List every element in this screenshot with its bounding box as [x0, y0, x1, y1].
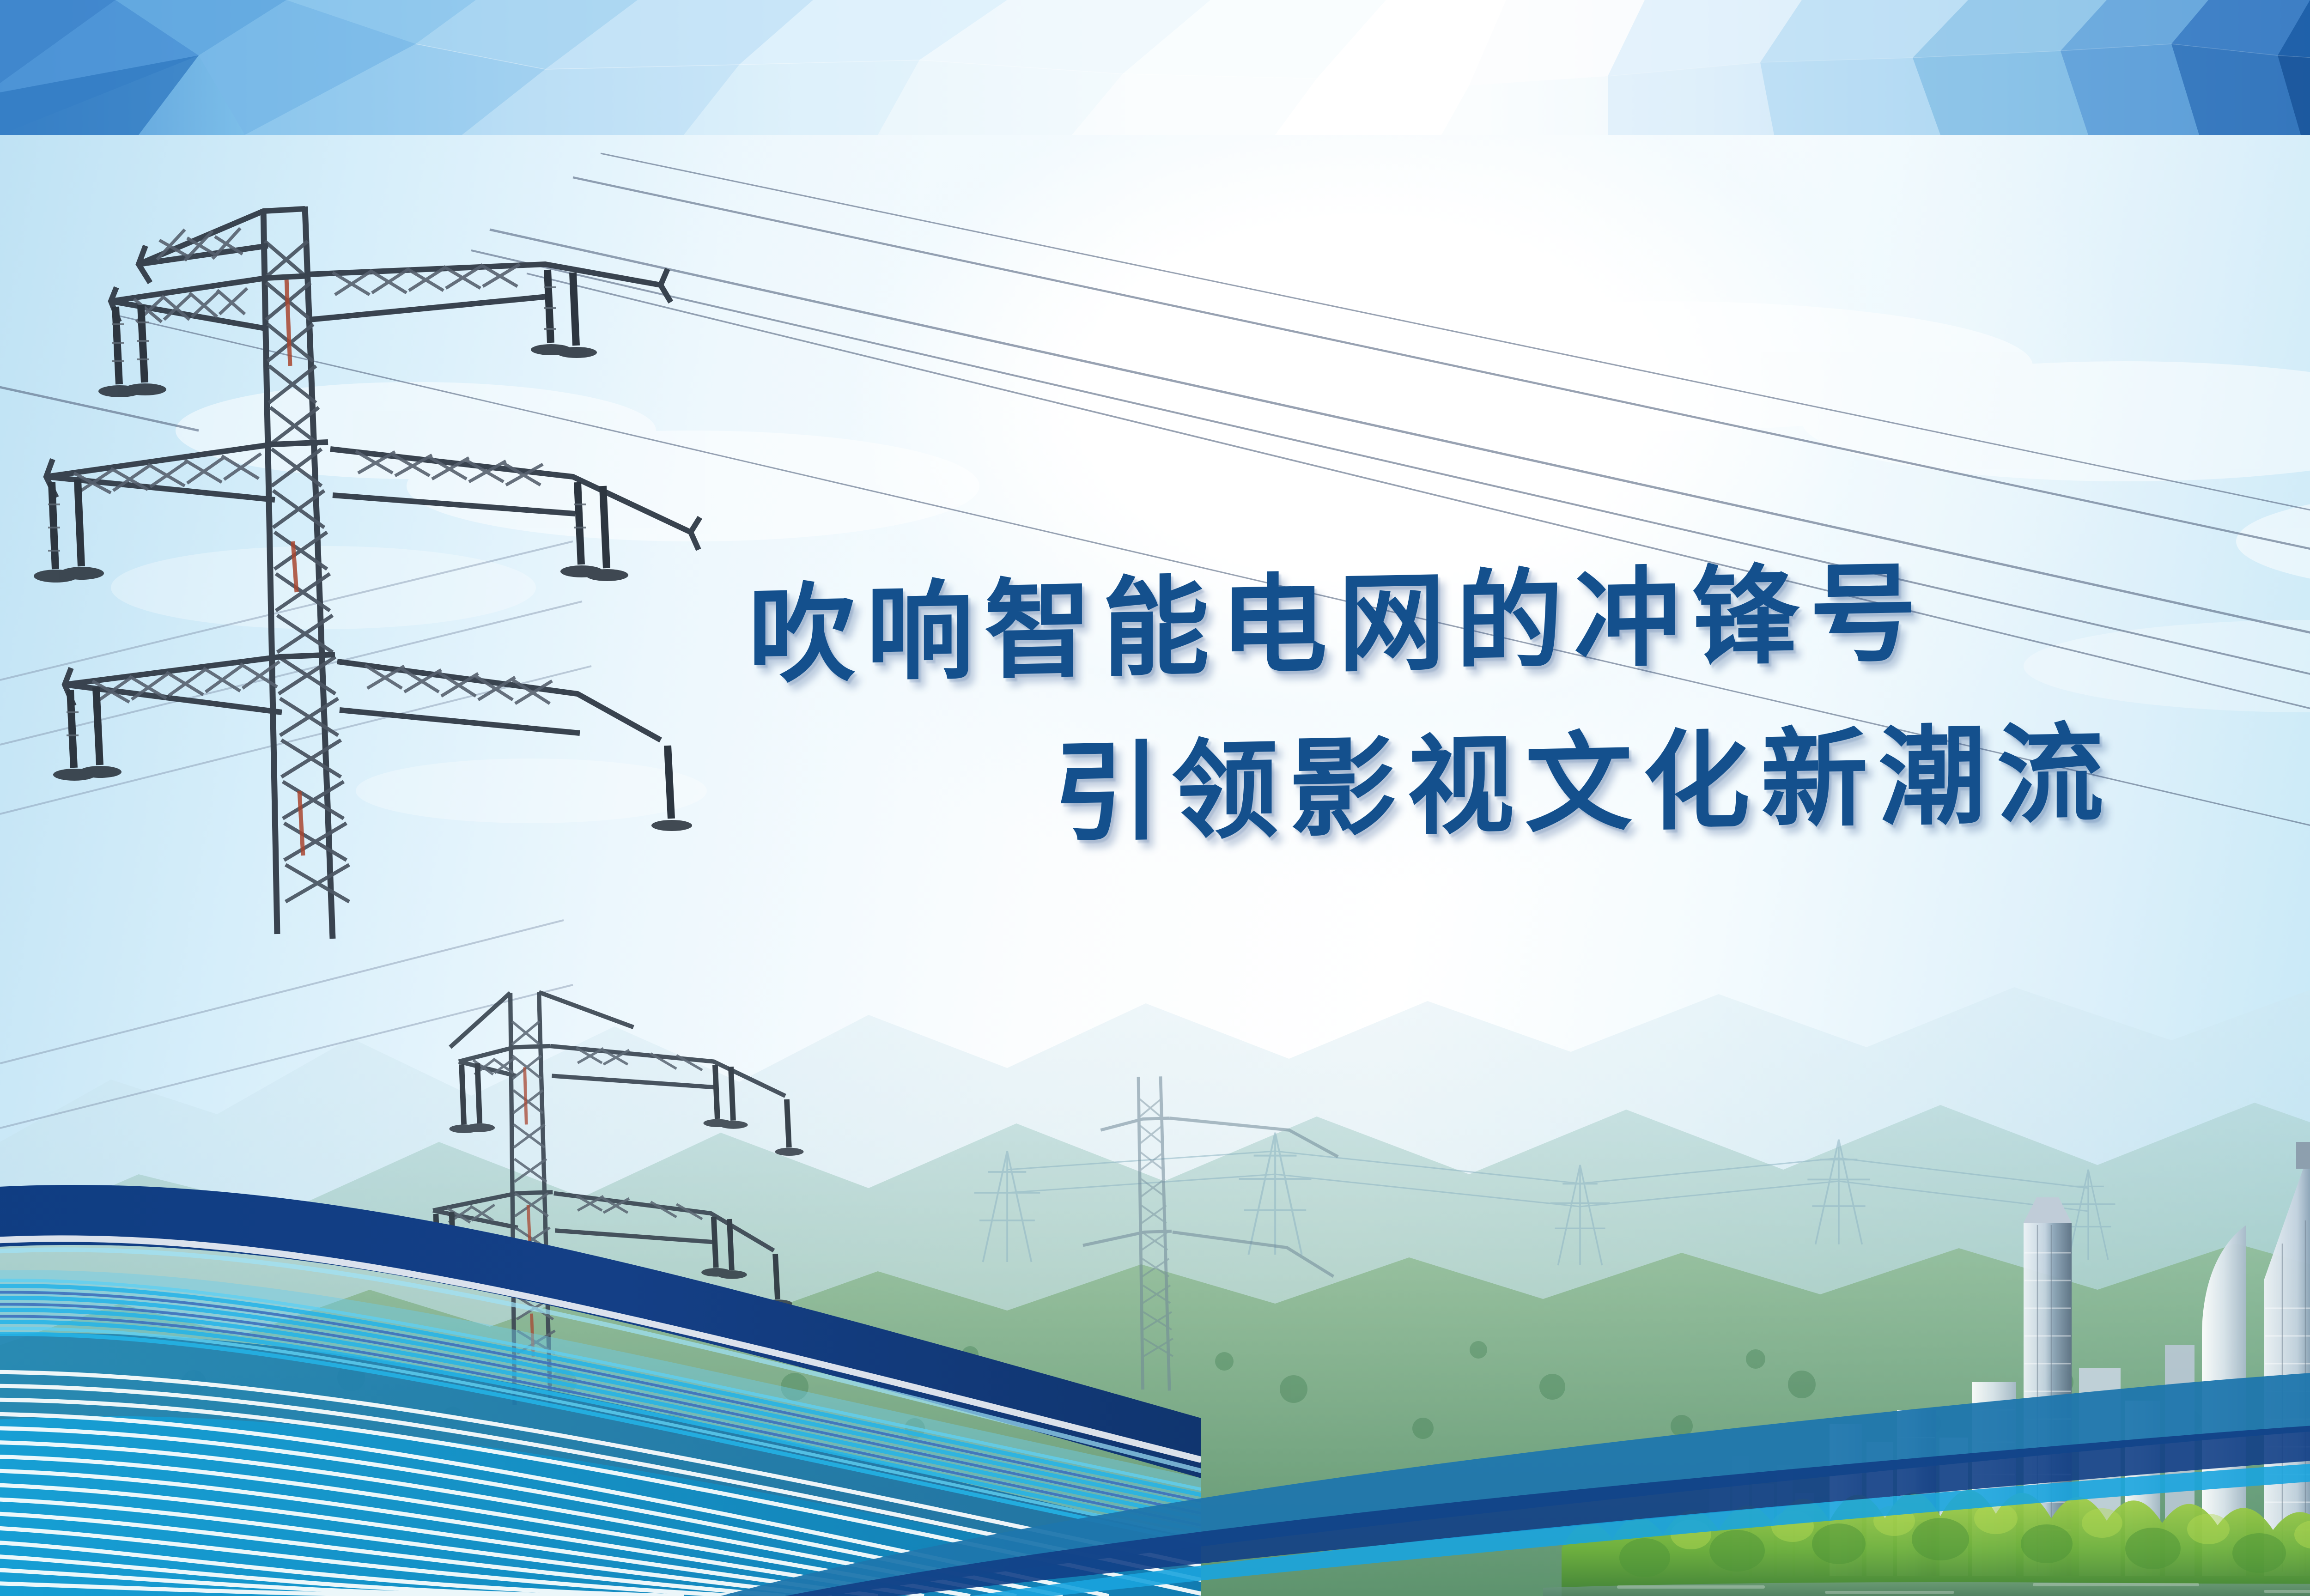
poster-canvas: 吹响智能电网的冲锋号 引领影视文化新潮流: [0, 0, 2310, 1596]
low-poly-triangles: [0, 0, 2310, 135]
main-scene: [0, 135, 2310, 1596]
low-poly-banner: [0, 0, 2310, 135]
scene-artwork: [0, 135, 2310, 1596]
